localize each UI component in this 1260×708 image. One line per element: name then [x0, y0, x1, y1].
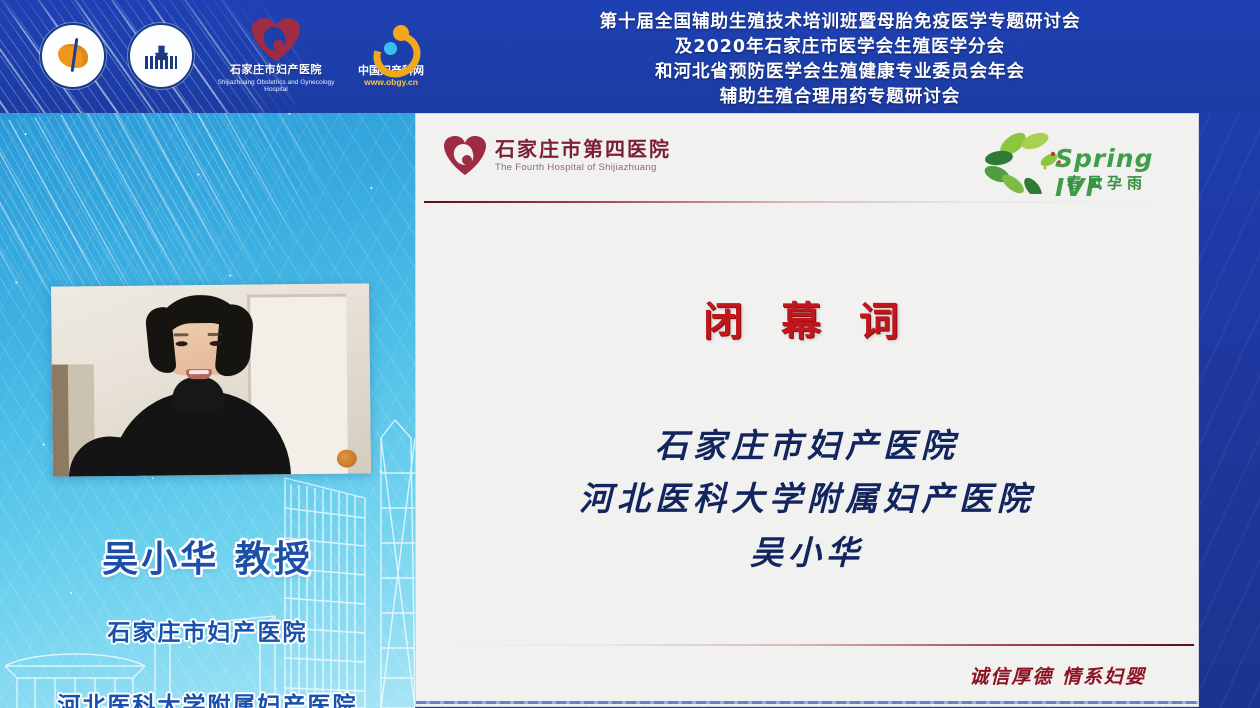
- presentation-slide[interactable]: 石家庄市第四医院 The Fourth Hospital of Shijiazh…: [415, 113, 1199, 707]
- speaker-affiliation-1: 石家庄市妇产医院: [0, 613, 415, 647]
- slide-header: 石家庄市第四医院 The Fourth Hospital of Shijiazh…: [416, 114, 1198, 201]
- video-mouth: [186, 369, 212, 379]
- speaker-affiliation-2: 河北医科大学附属妇产医院: [0, 686, 415, 708]
- slide-body-line-2: 河北医科大学附属妇产医院: [416, 472, 1198, 525]
- video-neck: [172, 377, 224, 412]
- slide-title: 闭 幕 词: [416, 289, 1198, 347]
- slide-body-line-3: 吴小华: [416, 526, 1198, 579]
- slide-hospital-logo: 石家庄市第四医院 The Fourth Hospital of Shijiazh…: [444, 136, 671, 176]
- obgyn-hospital-name-cn: 石家庄市妇产医院: [230, 64, 322, 77]
- conference-title: 第十届全国辅助生殖技术培训班暨母胎免疫医学专题研讨会 及2020年石家庄市医学会…: [470, 10, 1210, 109]
- obgyn-net-url: www.obgy.cn: [364, 78, 418, 87]
- conference-title-line-4: 辅助生殖合理用药专题研讨会: [470, 85, 1210, 110]
- video-flower-decor: [337, 449, 357, 467]
- slide-bottom-accent: [416, 701, 1198, 704]
- slide-hospital-name-en: The Fourth Hospital of Shijiazhuang: [495, 162, 671, 174]
- slide-header-divider: [424, 201, 1194, 203]
- spring-ivf-logo: Spring IVF 春风孕雨: [983, 132, 1168, 194]
- slide-footer-slogan: 诚信厚德 情系妇婴: [969, 662, 1146, 689]
- obgyn-hospital-name-en: Shijiazhuang Obstetrics and Gynecology H…: [216, 79, 336, 94]
- slide-footer-divider: [424, 644, 1194, 646]
- great-wall-seal-icon: [128, 23, 194, 89]
- logo-shijiazhuang-obgyn-hospital: 石家庄市妇产医院 Shijiazhuang Obstetrics and Gyn…: [216, 18, 336, 94]
- video-brow-right: [208, 333, 223, 336]
- logo-shijiazhuang-medical-association: [40, 23, 106, 89]
- live-speaker-video[interactable]: [51, 283, 371, 476]
- slide-body: 石家庄市妇产医院 河北医科大学附属妇产医院 吴小华: [416, 419, 1198, 579]
- conference-banner: 石家庄市妇产医院 Shijiazhuang Obstetrics and Gyn…: [0, 0, 1260, 113]
- logo-china-obgyn-net: 中国妇产科网 www.obgy.cn: [358, 25, 424, 87]
- spring-ivf-text-cn: 春风孕雨: [1067, 172, 1147, 193]
- logo-hebei-preventive-medicine: [128, 23, 194, 89]
- speaker-panel: 吴小华 教授 石家庄市妇产医院 河北医科大学附属妇产医院: [0, 113, 415, 708]
- slide-body-line-1: 石家庄市妇产医院: [416, 419, 1198, 472]
- video-brow-left: [174, 333, 189, 336]
- conference-title-line-3: 和河北省预防医学会生殖健康专业委员会年会: [470, 60, 1210, 85]
- slide-hospital-name-cn: 石家庄市第四医院: [495, 138, 671, 160]
- medical-association-seal-icon: [40, 23, 106, 89]
- obgyn-net-swirl-icon: [370, 25, 412, 63]
- organizer-logo-strip: 石家庄市妇产医院 Shijiazhuang Obstetrics and Gyn…: [40, 8, 424, 104]
- video-left-door-dark: [52, 364, 69, 476]
- presentation-stage: 石家庄市妇产医院 Shijiazhuang Obstetrics and Gyn…: [0, 0, 1260, 708]
- conference-title-line-2: 及2020年石家庄市医学会生殖医学分会: [470, 35, 1210, 60]
- mother-child-heart-icon: [252, 18, 300, 62]
- conference-title-line-1: 第十届全国辅助生殖技术培训班暨母胎免疫医学专题研讨会: [470, 10, 1210, 35]
- speaker-name: 吴小华 教授: [0, 530, 415, 582]
- fourth-hospital-heart-icon: [444, 136, 486, 176]
